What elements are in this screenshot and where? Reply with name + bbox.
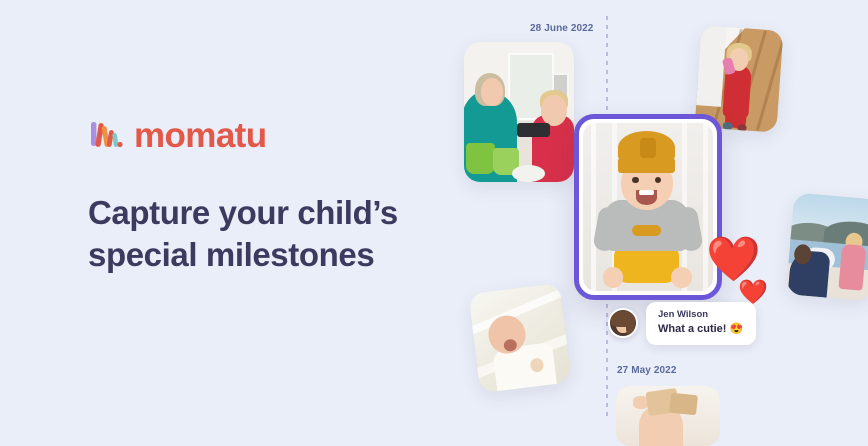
photo-card-kitchen[interactable] — [464, 42, 574, 182]
comment-author: Jen Wilson — [658, 308, 744, 322]
timeline-date-bottom: 27 May 2022 — [617, 365, 676, 376]
photo-featured — [583, 123, 713, 291]
photo-card-lake[interactable] — [786, 192, 868, 301]
brand-wordmark: momatu — [134, 118, 267, 153]
heart-emoji[interactable]: ❤️ — [706, 238, 761, 282]
photo-newborn — [468, 283, 572, 393]
photo-card-blocks[interactable] — [616, 386, 720, 446]
brand-logo[interactable]: momatu — [88, 112, 468, 158]
photo-lake — [786, 192, 868, 301]
photo-card-featured[interactable] — [574, 114, 722, 300]
timeline-date-top: 28 June 2022 — [530, 23, 593, 34]
page-title: Capture your child’s special milestones — [88, 192, 468, 276]
hero-section: momatu Capture your child’s special mile… — [0, 0, 868, 424]
photo-kitchen — [464, 42, 574, 182]
avatar — [608, 308, 638, 338]
comment-text: What a cutie! 😍 — [658, 322, 744, 337]
comment-item[interactable]: Jen Wilson What a cutie! 😍 — [608, 302, 756, 345]
hero-copy: momatu Capture your child’s special mile… — [88, 112, 468, 276]
photo-blocks — [616, 386, 720, 446]
comment-bubble: Jen Wilson What a cutie! 😍 — [646, 302, 756, 345]
photo-card-newborn[interactable] — [468, 283, 572, 393]
momatu-logo-mark-icon — [88, 117, 124, 153]
